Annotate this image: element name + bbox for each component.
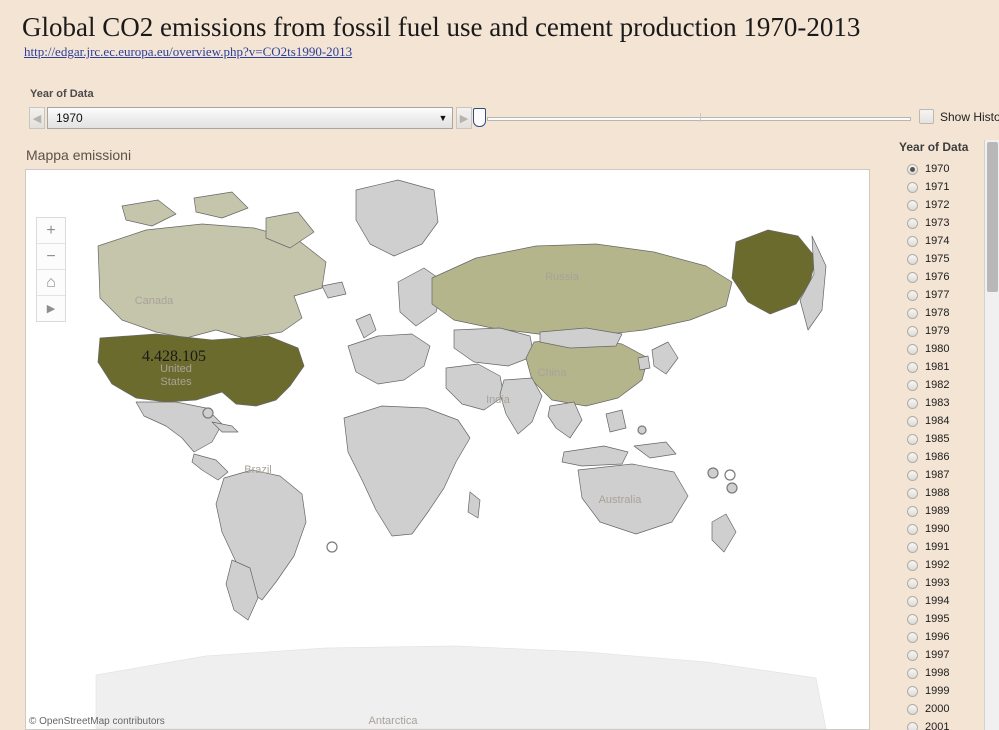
year-option-1977[interactable]: 1977 [885, 286, 990, 304]
country-philippines[interactable] [606, 410, 626, 432]
year-option-label: 1999 [925, 685, 949, 697]
radio-icon[interactable] [907, 344, 918, 355]
year-option-label: 1977 [925, 289, 949, 301]
year-radio-list[interactable]: 1970197119721973197419751976197719781979… [885, 160, 990, 730]
page-header: Global CO2 emissions from fossil fuel us… [0, 0, 999, 80]
year-option-label: 1992 [925, 559, 949, 571]
year-option-1976[interactable]: 1976 [885, 268, 990, 286]
year-option-label: 1990 [925, 523, 949, 535]
year-option-1970[interactable]: 1970 [885, 160, 990, 178]
year-option-label: 1988 [925, 487, 949, 499]
year-slider-tick [700, 113, 701, 122]
radio-icon[interactable] [907, 326, 918, 337]
radio-icon[interactable] [907, 308, 918, 319]
radio-icon[interactable] [907, 488, 918, 499]
country-label-australia: Australia [599, 494, 643, 506]
year-select-dropdown[interactable]: 1970 ▼ [47, 107, 453, 129]
radio-icon[interactable] [907, 254, 918, 265]
home-icon[interactable]: ⌂ [37, 269, 65, 295]
chevron-left-icon: ◀ [33, 112, 41, 125]
year-option-label: 1980 [925, 343, 949, 355]
year-option-label: 2001 [925, 721, 949, 730]
play-icon[interactable]: ▶ [37, 295, 65, 321]
year-option-1994[interactable]: 1994 [885, 592, 990, 610]
country-label-china: China [538, 367, 568, 379]
year-option-1987[interactable]: 1987 [885, 466, 990, 484]
year-option-1991[interactable]: 1991 [885, 538, 990, 556]
chevron-down-icon: ▼ [434, 113, 452, 123]
year-slider-handle[interactable] [473, 108, 486, 127]
radio-icon[interactable] [907, 578, 918, 589]
radio-icon[interactable] [907, 722, 918, 730]
year-option-1971[interactable]: 1971 [885, 178, 990, 196]
year-option-label: 1994 [925, 595, 949, 607]
radio-icon[interactable] [907, 236, 918, 247]
year-option-1979[interactable]: 1979 [885, 322, 990, 340]
year-option-1998[interactable]: 1998 [885, 664, 990, 682]
year-option-1992[interactable]: 1992 [885, 556, 990, 574]
zoom-out-icon[interactable]: − [37, 243, 65, 269]
year-option-1996[interactable]: 1996 [885, 628, 990, 646]
radio-icon[interactable] [907, 380, 918, 391]
year-option-1993[interactable]: 1993 [885, 574, 990, 592]
year-option-2001[interactable]: 2001 [885, 718, 990, 730]
year-option-label: 1973 [925, 217, 949, 229]
year-option-1981[interactable]: 1981 [885, 358, 990, 376]
year-option-1990[interactable]: 1990 [885, 520, 990, 538]
world-map[interactable]: CanadaUnitedStatesRussiaChinaIndiaBrazil… [26, 170, 869, 729]
year-option-1974[interactable]: 1974 [885, 232, 990, 250]
island-marker[interactable] [327, 542, 337, 552]
radio-icon[interactable] [907, 452, 918, 463]
radio-icon[interactable] [907, 542, 918, 553]
radio-icon[interactable] [907, 200, 918, 211]
radio-icon[interactable] [907, 434, 918, 445]
country-korea[interactable] [638, 356, 650, 370]
country-label-brazil: Brazil [244, 464, 272, 476]
year-option-1985[interactable]: 1985 [885, 430, 990, 448]
year-option-1980[interactable]: 1980 [885, 340, 990, 358]
year-option-1999[interactable]: 1999 [885, 682, 990, 700]
radio-icon[interactable] [907, 632, 918, 643]
year-option-1995[interactable]: 1995 [885, 610, 990, 628]
chevron-right-icon: ▶ [460, 112, 468, 125]
radio-icon[interactable] [907, 506, 918, 517]
country-label-india: India [486, 394, 511, 406]
page-title: Global CO2 emissions from fossil fuel us… [22, 12, 860, 43]
radio-icon[interactable] [907, 470, 918, 481]
radio-icon[interactable] [907, 398, 918, 409]
year-option-1973[interactable]: 1973 [885, 214, 990, 232]
year-option-label: 1995 [925, 613, 949, 625]
map-zoom-controls[interactable]: + − ⌂ ▶ [36, 217, 66, 322]
radio-icon[interactable] [907, 416, 918, 427]
year-option-label: 1971 [925, 181, 949, 193]
year-option-label: 1993 [925, 577, 949, 589]
year-option-label: 1997 [925, 649, 949, 661]
year-of-data-sidebar: Year of Data 197019711972197319741975197… [885, 140, 990, 730]
year-option-2000[interactable]: 2000 [885, 700, 990, 718]
united-states-emission-value: 4.428.105 [142, 348, 206, 365]
year-option-label: 1987 [925, 469, 949, 481]
map-panel-title: Mappa emissioni [26, 147, 131, 163]
year-option-label: 1984 [925, 415, 949, 427]
year-option-1972[interactable]: 1972 [885, 196, 990, 214]
show-history-checkbox[interactable] [919, 109, 934, 124]
radio-icon[interactable] [907, 524, 918, 535]
island-marker[interactable] [638, 426, 646, 434]
year-option-label: 1979 [925, 325, 949, 337]
year-select-value: 1970 [48, 111, 434, 125]
year-option-1978[interactable]: 1978 [885, 304, 990, 322]
year-option-label: 1983 [925, 397, 949, 409]
radio-icon[interactable] [907, 290, 918, 301]
previous-year-button[interactable]: ◀ [29, 107, 45, 129]
radio-icon[interactable] [907, 164, 918, 175]
country-label-canada: Canada [135, 295, 174, 307]
emissions-map-panel[interactable]: CanadaUnitedStatesRussiaChinaIndiaBrazil… [25, 169, 870, 730]
year-option-label: 1982 [925, 379, 949, 391]
island-marker[interactable] [708, 468, 718, 478]
radio-icon[interactable] [907, 560, 918, 571]
year-option-label: 1981 [925, 361, 949, 373]
radio-icon[interactable] [907, 218, 918, 229]
radio-icon[interactable] [907, 668, 918, 679]
year-option-label: 1974 [925, 235, 949, 247]
year-option-1984[interactable]: 1984 [885, 412, 990, 430]
year-option-label: 1996 [925, 631, 949, 643]
openstreetmap-attribution: © OpenStreetMap contributors [29, 716, 165, 727]
country-label-russia: Russia [545, 271, 580, 283]
radio-icon[interactable] [907, 596, 918, 607]
year-option-1997[interactable]: 1997 [885, 646, 990, 664]
year-option-label: 1970 [925, 163, 949, 175]
year-option-1983[interactable]: 1983 [885, 394, 990, 412]
year-option-label: 1975 [925, 253, 949, 265]
zoom-in-icon[interactable]: + [37, 218, 65, 243]
year-option-label: 1991 [925, 541, 949, 553]
radio-icon[interactable] [907, 650, 918, 661]
year-option-label: 1998 [925, 667, 949, 679]
island-marker[interactable] [725, 470, 735, 480]
source-url-link[interactable]: http://edgar.jrc.ec.europa.eu/overview.p… [24, 44, 352, 60]
year-option-1975[interactable]: 1975 [885, 250, 990, 268]
year-option-label: 1989 [925, 505, 949, 517]
island-marker[interactable] [727, 483, 737, 493]
year-slider-track[interactable] [487, 117, 911, 121]
year-option-label: 1978 [925, 307, 949, 319]
page-scrollbar[interactable] [984, 140, 999, 730]
radio-icon[interactable] [907, 704, 918, 715]
year-option-1988[interactable]: 1988 [885, 484, 990, 502]
year-option-label: 1986 [925, 451, 949, 463]
year-option-label: 1972 [925, 199, 949, 211]
year-option-label: 1976 [925, 271, 949, 283]
year-option-label: 1985 [925, 433, 949, 445]
year-option-label: 2000 [925, 703, 949, 715]
year-option-1989[interactable]: 1989 [885, 502, 990, 520]
sidebar-title: Year of Data [899, 140, 990, 154]
radio-icon[interactable] [907, 272, 918, 283]
next-year-button[interactable]: ▶ [456, 107, 472, 129]
radio-icon[interactable] [907, 182, 918, 193]
radio-icon[interactable] [907, 686, 918, 697]
country-label-united-states: UnitedStates [160, 363, 192, 388]
year-option-1986[interactable]: 1986 [885, 448, 990, 466]
show-history-label: Show History [940, 110, 999, 124]
page-scrollbar-thumb[interactable] [987, 142, 998, 292]
year-of-data-label: Year of Data [30, 88, 94, 100]
country-label-antarctica: Antarctica [369, 715, 419, 727]
radio-icon[interactable] [907, 362, 918, 373]
island-marker[interactable] [203, 408, 213, 418]
year-option-1982[interactable]: 1982 [885, 376, 990, 394]
radio-icon[interactable] [907, 614, 918, 625]
